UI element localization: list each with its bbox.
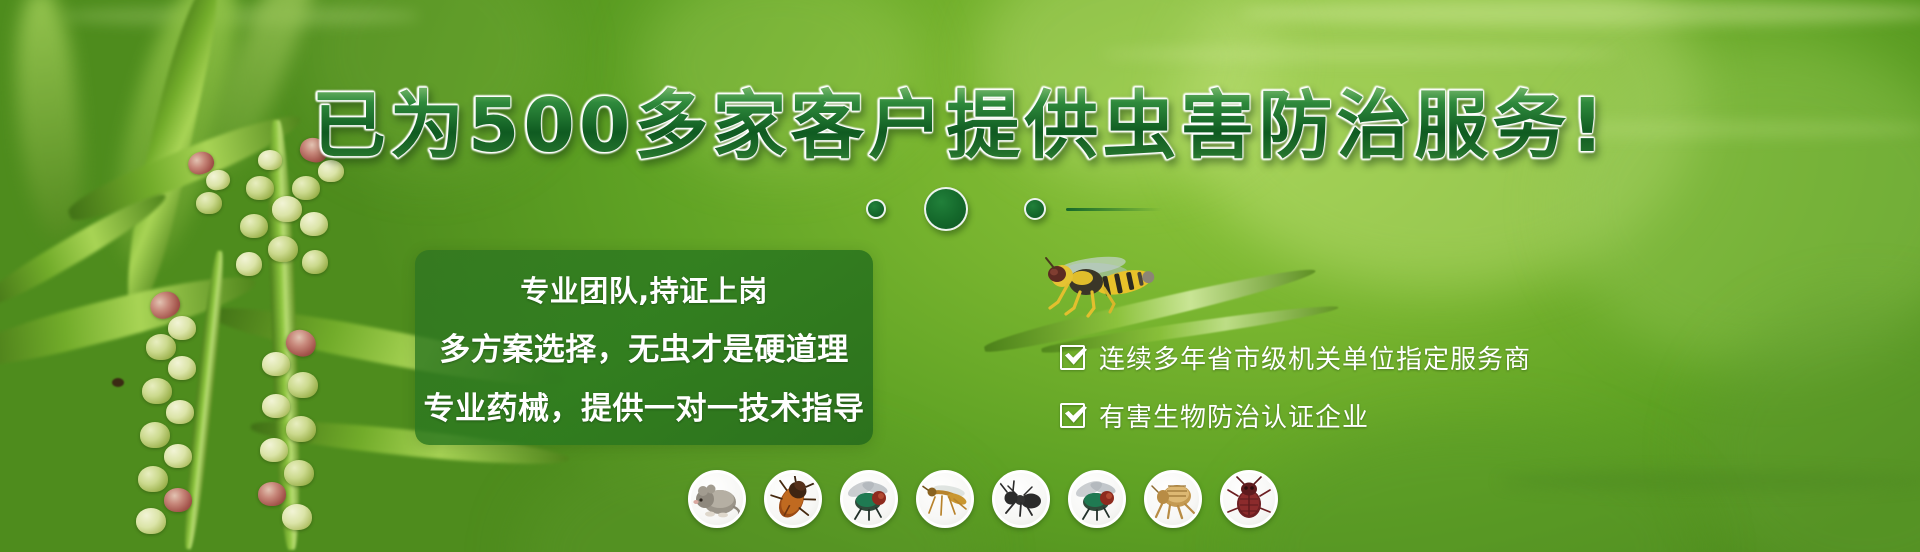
credentials-list: 连续多年省市级机关单位指定服务商 有害生物防治认证企业 — [1060, 334, 1531, 438]
fly-icon-2[interactable]: 苍蝇 — [1068, 470, 1126, 528]
bedbug-icon[interactable]: 臭虫 — [1220, 470, 1278, 528]
headline: 已为500多家客户提供虫害防治服务! — [0, 66, 1920, 173]
leaf-speck-icon — [112, 378, 124, 387]
decorative-dots — [866, 186, 1166, 234]
credential-text-1: 连续多年省市级机关单位指定服务商 — [1099, 339, 1531, 376]
mouse-icon[interactable]: 鼠 — [688, 470, 746, 528]
fly-icon[interactable]: 苍蝇 — [840, 470, 898, 528]
feature-panel: 专业团队,持证上岗 多方案选择，无虫才是硬道理 专业药械，提供一对一技术指导 — [415, 250, 873, 445]
ant-icon[interactable]: 蚂蚁 — [992, 470, 1050, 528]
pest-icon-row: 鼠 蟑螂 — [688, 470, 1278, 528]
credential-item-2: 有害生物防治认证企业 — [1060, 392, 1531, 438]
credential-text-2: 有害生物防治认证企业 — [1099, 397, 1369, 434]
decorative-rule — [1066, 208, 1162, 211]
feature-line-3: 专业药械，提供一对一技术指导 — [424, 383, 865, 428]
pest-control-banner: 已为500多家客户提供虫害防治服务! 专业团队,持证上岗 多方案选择，无虫才是硬… — [0, 0, 1920, 552]
hover-fly-icon — [1032, 250, 1158, 320]
check-box-icon — [1060, 403, 1085, 428]
feature-line-1: 专业团队,持证上岗 — [520, 268, 768, 310]
credential-item-1: 连续多年省市级机关单位指定服务商 — [1060, 334, 1531, 380]
small-dot-right — [1024, 198, 1046, 220]
feature-line-2: 多方案选择，无虫才是硬道理 — [439, 324, 849, 369]
check-box-icon — [1060, 345, 1085, 370]
headline-text: 已为500多家客户提供虫害防治服务! — [312, 66, 1608, 173]
feature-panel-lines: 专业团队,持证上岗 多方案选择，无虫才是硬道理 专业药械，提供一对一技术指导 — [415, 250, 873, 445]
small-dot-left — [866, 199, 886, 219]
large-dot-center — [924, 187, 968, 231]
mosquito-icon[interactable]: 蚊 — [916, 470, 974, 528]
cockroach-icon[interactable]: 蟑螂 — [764, 470, 822, 528]
flea-icon[interactable]: 跳蚤 — [1144, 470, 1202, 528]
